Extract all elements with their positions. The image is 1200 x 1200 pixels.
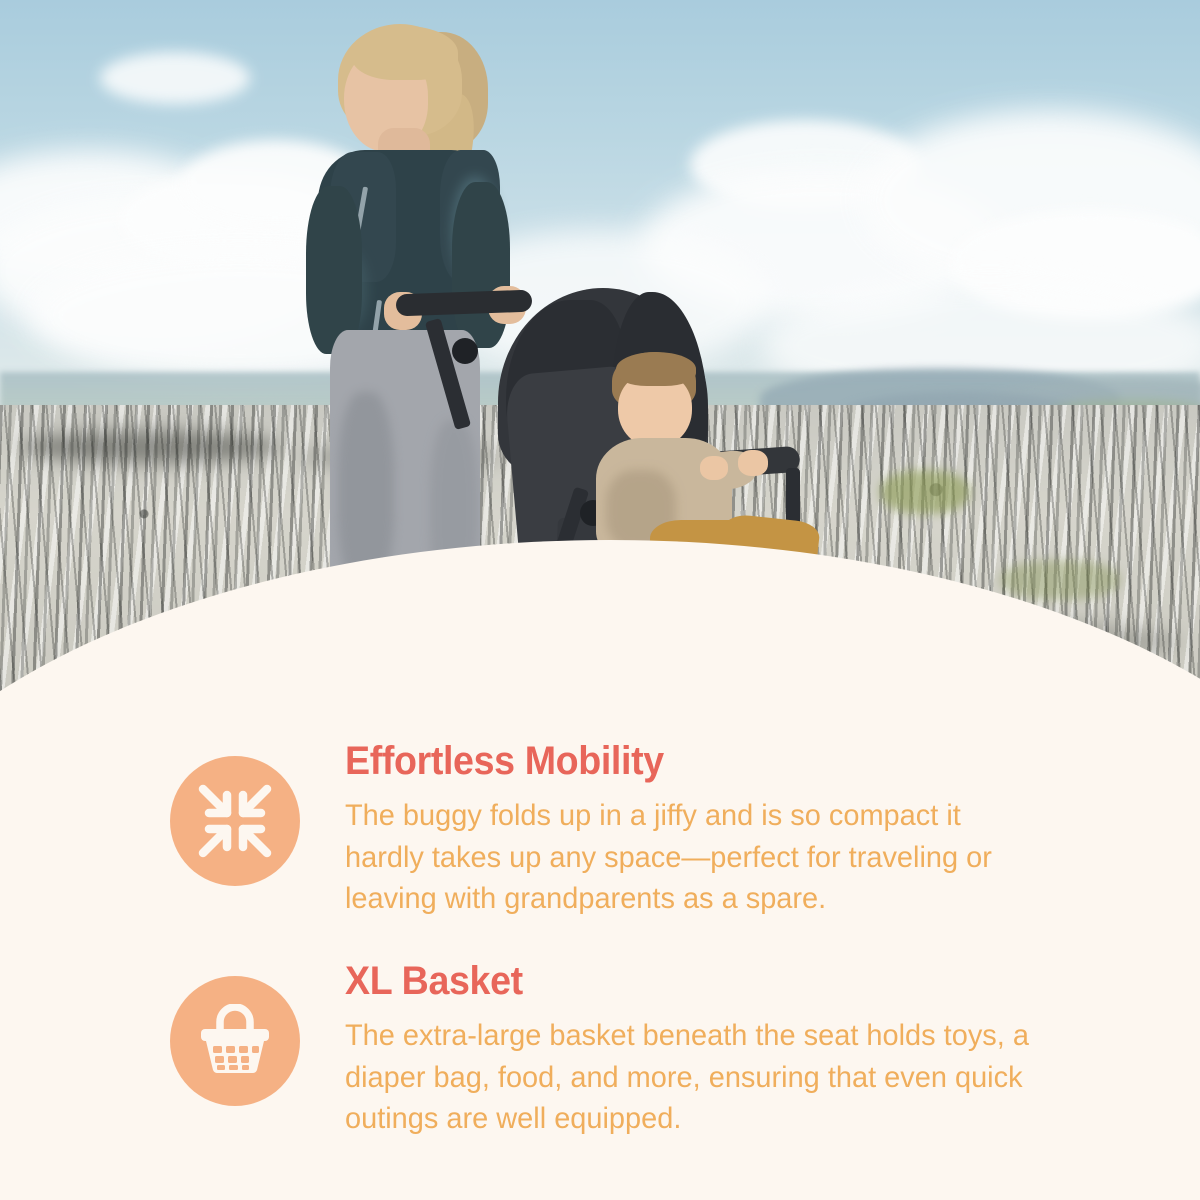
features-list: Effortless Mobility The buggy folds up i… (0, 0, 1200, 1200)
feature-body: The buggy folds up in a jiffy and is so … (345, 795, 1040, 920)
feature-body: The extra-large basket beneath the seat … (345, 1015, 1040, 1140)
feature-text: Effortless Mobility The buggy folds up i… (345, 740, 1065, 920)
shopping-basket-icon (170, 976, 300, 1106)
feature-title: Effortless Mobility (345, 740, 1022, 782)
compress-arrows-icon (170, 756, 300, 886)
feature-item-xl-basket: XL Basket The extra-large basket beneath… (170, 960, 1065, 1140)
feature-card: Effortless Mobility The buggy folds up i… (0, 0, 1200, 1200)
feature-item-effortless-mobility: Effortless Mobility The buggy folds up i… (170, 740, 1065, 920)
feature-text: XL Basket The extra-large basket beneath… (345, 960, 1065, 1140)
feature-title: XL Basket (345, 960, 1022, 1002)
